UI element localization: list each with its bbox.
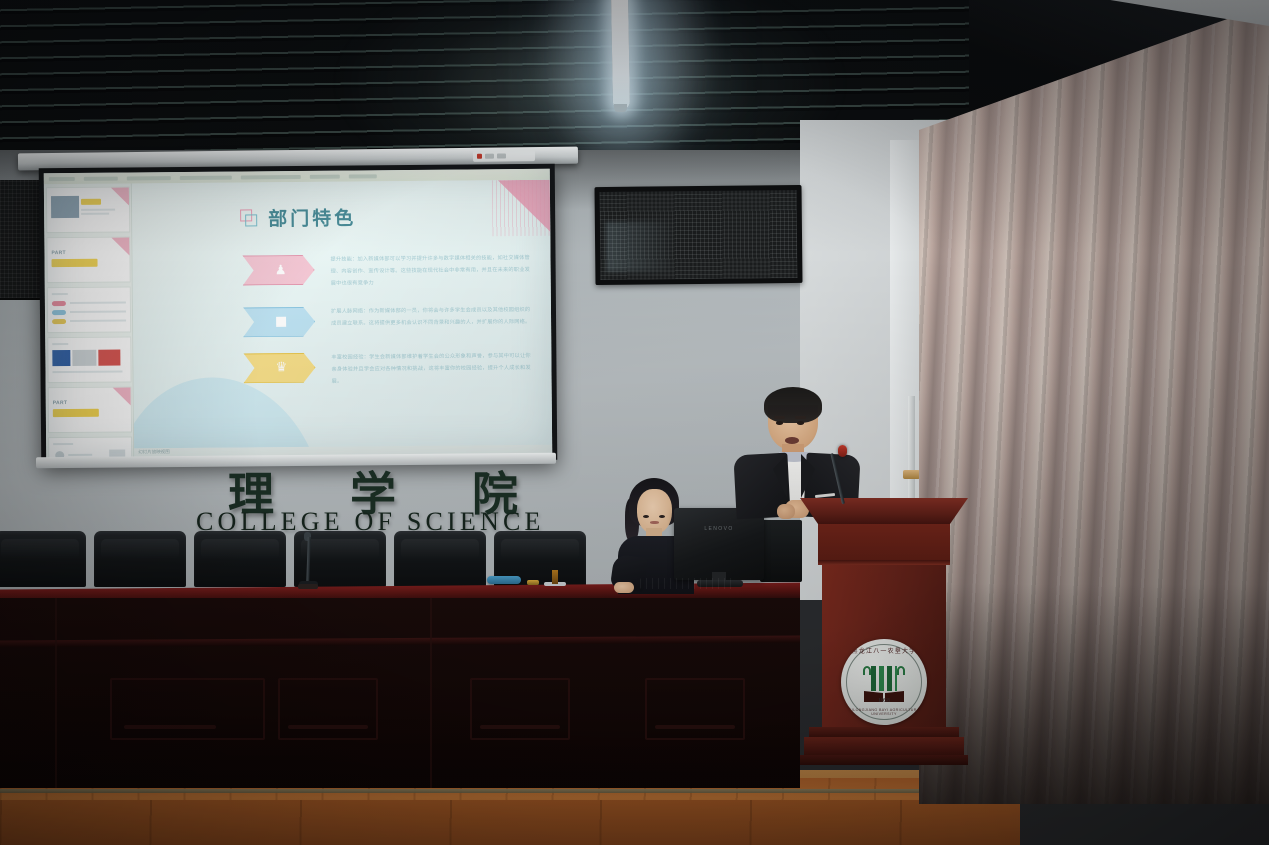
podium-microphone-head (838, 445, 847, 457)
thumb-corner-decoration (111, 237, 129, 255)
trophy-icon: ♛ (276, 361, 288, 374)
desk-panel-handle (124, 725, 216, 729)
ribbon-tab-help[interactable] (349, 174, 377, 178)
conference-chair[interactable] (94, 531, 186, 587)
screen-control-panel[interactable] (473, 150, 535, 162)
lecture-hall-photo: PART (0, 0, 1269, 845)
desk-panel (110, 678, 265, 740)
slide-row-text: 丰富校园经验：学生会新媒体部维护着学生会的公众形象和声誉，参与其中可以让你亲身体… (331, 350, 535, 388)
speaker-hair (764, 387, 822, 423)
slide-title-group: 部门特色 (240, 203, 356, 231)
screen-up-button[interactable] (485, 154, 494, 159)
window-curtains[interactable] (919, 4, 1269, 804)
thumb-part-label: PART (53, 400, 68, 406)
slide-row: ♟ 提升技能：加入新媒体部可以学习并提升许多与数字媒体相关的技能，如社交媒体管理… (242, 252, 534, 291)
floor-threshold-strip (0, 789, 1000, 793)
curtain-bottom-shadow (919, 584, 1269, 804)
wall-mesh-panel-right (594, 185, 802, 285)
thumb-line (52, 371, 122, 374)
desk-object-dark[interactable] (298, 584, 318, 589)
thumb-pill-blue (52, 310, 66, 315)
ribbon-tab-insert[interactable] (127, 176, 171, 180)
chevron-pink: ♟ (242, 255, 314, 286)
chevron-yellow: ♛ (243, 353, 315, 384)
fluorescent-tube-light (611, 0, 630, 110)
conference-chair[interactable] (0, 531, 86, 587)
thumb-title-bar (53, 409, 99, 417)
thumb-image (51, 196, 79, 218)
speaker-eye-right (797, 421, 804, 425)
desk-panel (470, 678, 570, 740)
podium-base-lower (800, 755, 968, 765)
slide-thumbnail[interactable] (47, 286, 131, 333)
pipe-joint (903, 470, 920, 479)
thumb-title-bar (52, 259, 98, 267)
operator-eye-left (643, 515, 649, 518)
podium-top (800, 498, 968, 524)
thumb-line (52, 293, 68, 295)
fluorescent-tube-cap (614, 104, 627, 112)
thumb-image (52, 350, 70, 366)
slide-row-text: 扩展人脉网络：作为新媒体部的一员，你将会与许多学生会成员以及其他校园组织的成员建… (331, 304, 535, 330)
slide-thumbnail[interactable]: PART (46, 236, 130, 283)
secondary-monitor (760, 520, 802, 582)
conference-chair[interactable] (194, 531, 286, 587)
thumb-line (81, 213, 109, 215)
slide-thumbnail[interactable] (47, 336, 131, 383)
thumb-image (72, 350, 96, 366)
thumb-pill-pink (52, 301, 66, 306)
desk-panel (645, 678, 745, 740)
slide-row-text: 提升技能：加入新媒体部可以学习并提升许多与数字媒体相关的技能，如社交媒体管理、内… (330, 252, 534, 290)
projection-screen: PART (39, 164, 558, 464)
thumb-pill-yellow (52, 319, 66, 324)
conference-chair[interactable] (394, 531, 486, 587)
thumb-image (98, 350, 120, 366)
keyboard[interactable] (640, 578, 735, 589)
thumb-line (70, 311, 126, 313)
wooden-floor-front (0, 800, 1020, 845)
thumb-line (68, 454, 92, 456)
emblem-founding-year: 1958 (841, 698, 927, 704)
podium-body: 黑龙江八一农垦大学 1958 HEILONGJIANG BAYI AGRICUL… (822, 565, 946, 727)
monitor-brand-label: LENOVO (704, 526, 733, 532)
thumb-corner-decoration (111, 187, 129, 205)
emblem-leaf (871, 666, 897, 691)
slide-title: 部门特色 (268, 203, 356, 231)
ribbon-tab-home[interactable] (84, 176, 118, 180)
speaker-eye-left (776, 421, 783, 425)
speaker-podium: 黑龙江八一农垦大学 1958 HEILONGJIANG BAYI AGRICUL… (800, 498, 968, 765)
slide-thumbnail[interactable]: PART (48, 386, 132, 433)
thumb-line (52, 343, 68, 345)
podium-neck (818, 524, 950, 560)
desk-nameplate (552, 570, 558, 584)
person-icon: ♟ (275, 264, 287, 277)
network-icon: ■ (275, 315, 287, 328)
speaker-brow-left (774, 416, 785, 419)
desk-panel-seam (55, 598, 57, 788)
podium-base-upper (809, 727, 959, 737)
chevron-blue: ■ (243, 307, 315, 338)
emblem-name-chinese: 黑龙江八一农垦大学 (841, 646, 927, 655)
operator-eye-right (659, 515, 665, 518)
emblem-book-and-leaf-icon (864, 666, 904, 702)
desk-panel-seam (430, 598, 432, 788)
thumb-line (53, 443, 73, 445)
slide-row: ♛ 丰富校园经验：学生会新媒体部维护着学生会的公众形象和声誉，参与其中可以让你亲… (243, 350, 535, 389)
thumb-part-label: PART (51, 250, 66, 256)
desk-panel-handle (480, 725, 560, 729)
desk-panel-handle (288, 725, 368, 729)
speaker-mouth (785, 437, 799, 444)
desk-object-blue[interactable] (487, 576, 521, 584)
thumb-line (70, 320, 126, 322)
university-emblem: 黑龙江八一农垦大学 1958 HEILONGJIANG BAYI AGRICUL… (841, 639, 927, 725)
operator-hand (614, 582, 634, 593)
slide-thumbnail[interactable] (46, 186, 130, 233)
emblem-leaf-curl-right (897, 666, 905, 675)
active-slide: 部门特色 ♟ 提升技能：加入新媒体部可以学习并提升许多与数字媒体相关的技能，如社… (132, 180, 552, 449)
podium-base-middle (804, 737, 964, 755)
desk-panel (278, 678, 378, 740)
ribbon-tab-file[interactable] (49, 176, 75, 180)
desk-panel-handle (655, 725, 735, 729)
speaker-brow-right (795, 416, 806, 419)
emblem-leaf-curl-left (863, 666, 871, 675)
thumb-corner-decoration (113, 387, 131, 405)
ribbon-tab-transitions[interactable] (241, 174, 301, 179)
ribbon-tab-view[interactable] (310, 174, 340, 178)
screen-down-button[interactable] (497, 153, 506, 158)
slide-row: ■ 扩展人脉网络：作为新媒体部的一员，你将会与许多学生会成员以及其他校园组织的成… (243, 304, 535, 338)
overlapping-squares-icon (240, 209, 258, 227)
operator-mouth (650, 521, 659, 524)
slide-thumbnail-panel[interactable]: PART (44, 183, 134, 459)
emblem-name-english: HEILONGJIANG BAYI AGRICULTURAL UNIVERSIT… (841, 708, 927, 716)
thumb-highlight (81, 199, 101, 205)
ribbon-tab-design[interactable] (180, 175, 232, 179)
desk-object-gold[interactable] (527, 580, 539, 585)
slide-bullet-rows: ♟ 提升技能：加入新媒体部可以学习并提升许多与数字媒体相关的技能，如社交媒体管理… (242, 252, 535, 404)
powerpoint-window: PART (44, 169, 552, 459)
speaker-hand-left (777, 504, 795, 519)
slide-corner-stripes (492, 180, 550, 237)
thumb-line (81, 209, 115, 211)
thumb-line (70, 302, 126, 304)
power-led-icon (477, 154, 482, 159)
